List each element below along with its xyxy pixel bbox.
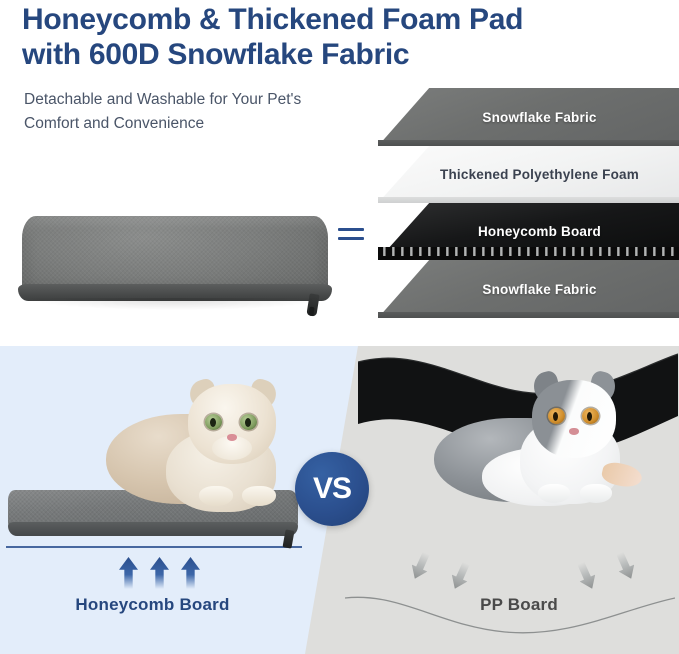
cat-paw-right xyxy=(580,484,612,503)
cat-paw-right xyxy=(242,486,276,506)
layer-label: Thickened Polyethylene Foam xyxy=(378,167,679,182)
honeycomb-cells-pattern xyxy=(378,247,679,256)
assembled-pad-illustration xyxy=(10,210,340,325)
cat-pupil-right xyxy=(245,418,251,427)
versus-badge-text: VS xyxy=(313,474,351,504)
cat-pupil-left xyxy=(210,418,216,427)
versus-badge: VS xyxy=(295,452,369,526)
pad-drop-shadow xyxy=(26,298,326,310)
cat-nose xyxy=(569,428,579,435)
exploded-layer-diagram: Snowflake Fabric Thickened Polyethylene … xyxy=(378,88,679,318)
layer-label: Snowflake Fabric xyxy=(378,110,679,125)
layer-polyethylene-foam: Thickened Polyethylene Foam xyxy=(378,146,679,203)
layer-label: Snowflake Fabric xyxy=(378,282,679,297)
page-subtitle: Detachable and Washable for Your Pet's C… xyxy=(24,88,354,136)
layer-label: Honeycomb Board xyxy=(378,224,679,239)
equals-bar-bottom xyxy=(338,237,364,240)
equals-bar-top xyxy=(338,228,364,231)
layer-snowflake-fabric-top: Snowflake Fabric xyxy=(378,88,679,146)
layer-honeycomb-board: Honeycomb Board xyxy=(378,203,679,260)
cat-on-honeycomb-pad xyxy=(104,378,294,513)
layer-edge xyxy=(378,312,679,318)
page-title: Honeycomb & Thickened Foam Pad with 600D… xyxy=(22,2,582,72)
cat-pupil-right xyxy=(587,412,592,421)
label-pp-board: PP Board xyxy=(360,595,678,615)
cat-nose xyxy=(227,434,237,441)
cat-paw-left xyxy=(538,484,570,503)
label-honeycomb-board: Honeycomb Board xyxy=(0,595,305,615)
layer-snowflake-fabric-bottom: Snowflake Fabric xyxy=(378,260,679,318)
cat-on-pp-board xyxy=(434,372,639,517)
cat-paw-left xyxy=(199,486,233,506)
zipper-pull-icon xyxy=(283,529,295,548)
pad-rim xyxy=(8,522,298,536)
product-overview-section: Honeycomb & Thickened Foam Pad with 600D… xyxy=(0,0,679,346)
equals-sign-icon xyxy=(338,228,364,248)
cat-pupil-left xyxy=(553,412,558,421)
cat-head xyxy=(532,380,616,458)
